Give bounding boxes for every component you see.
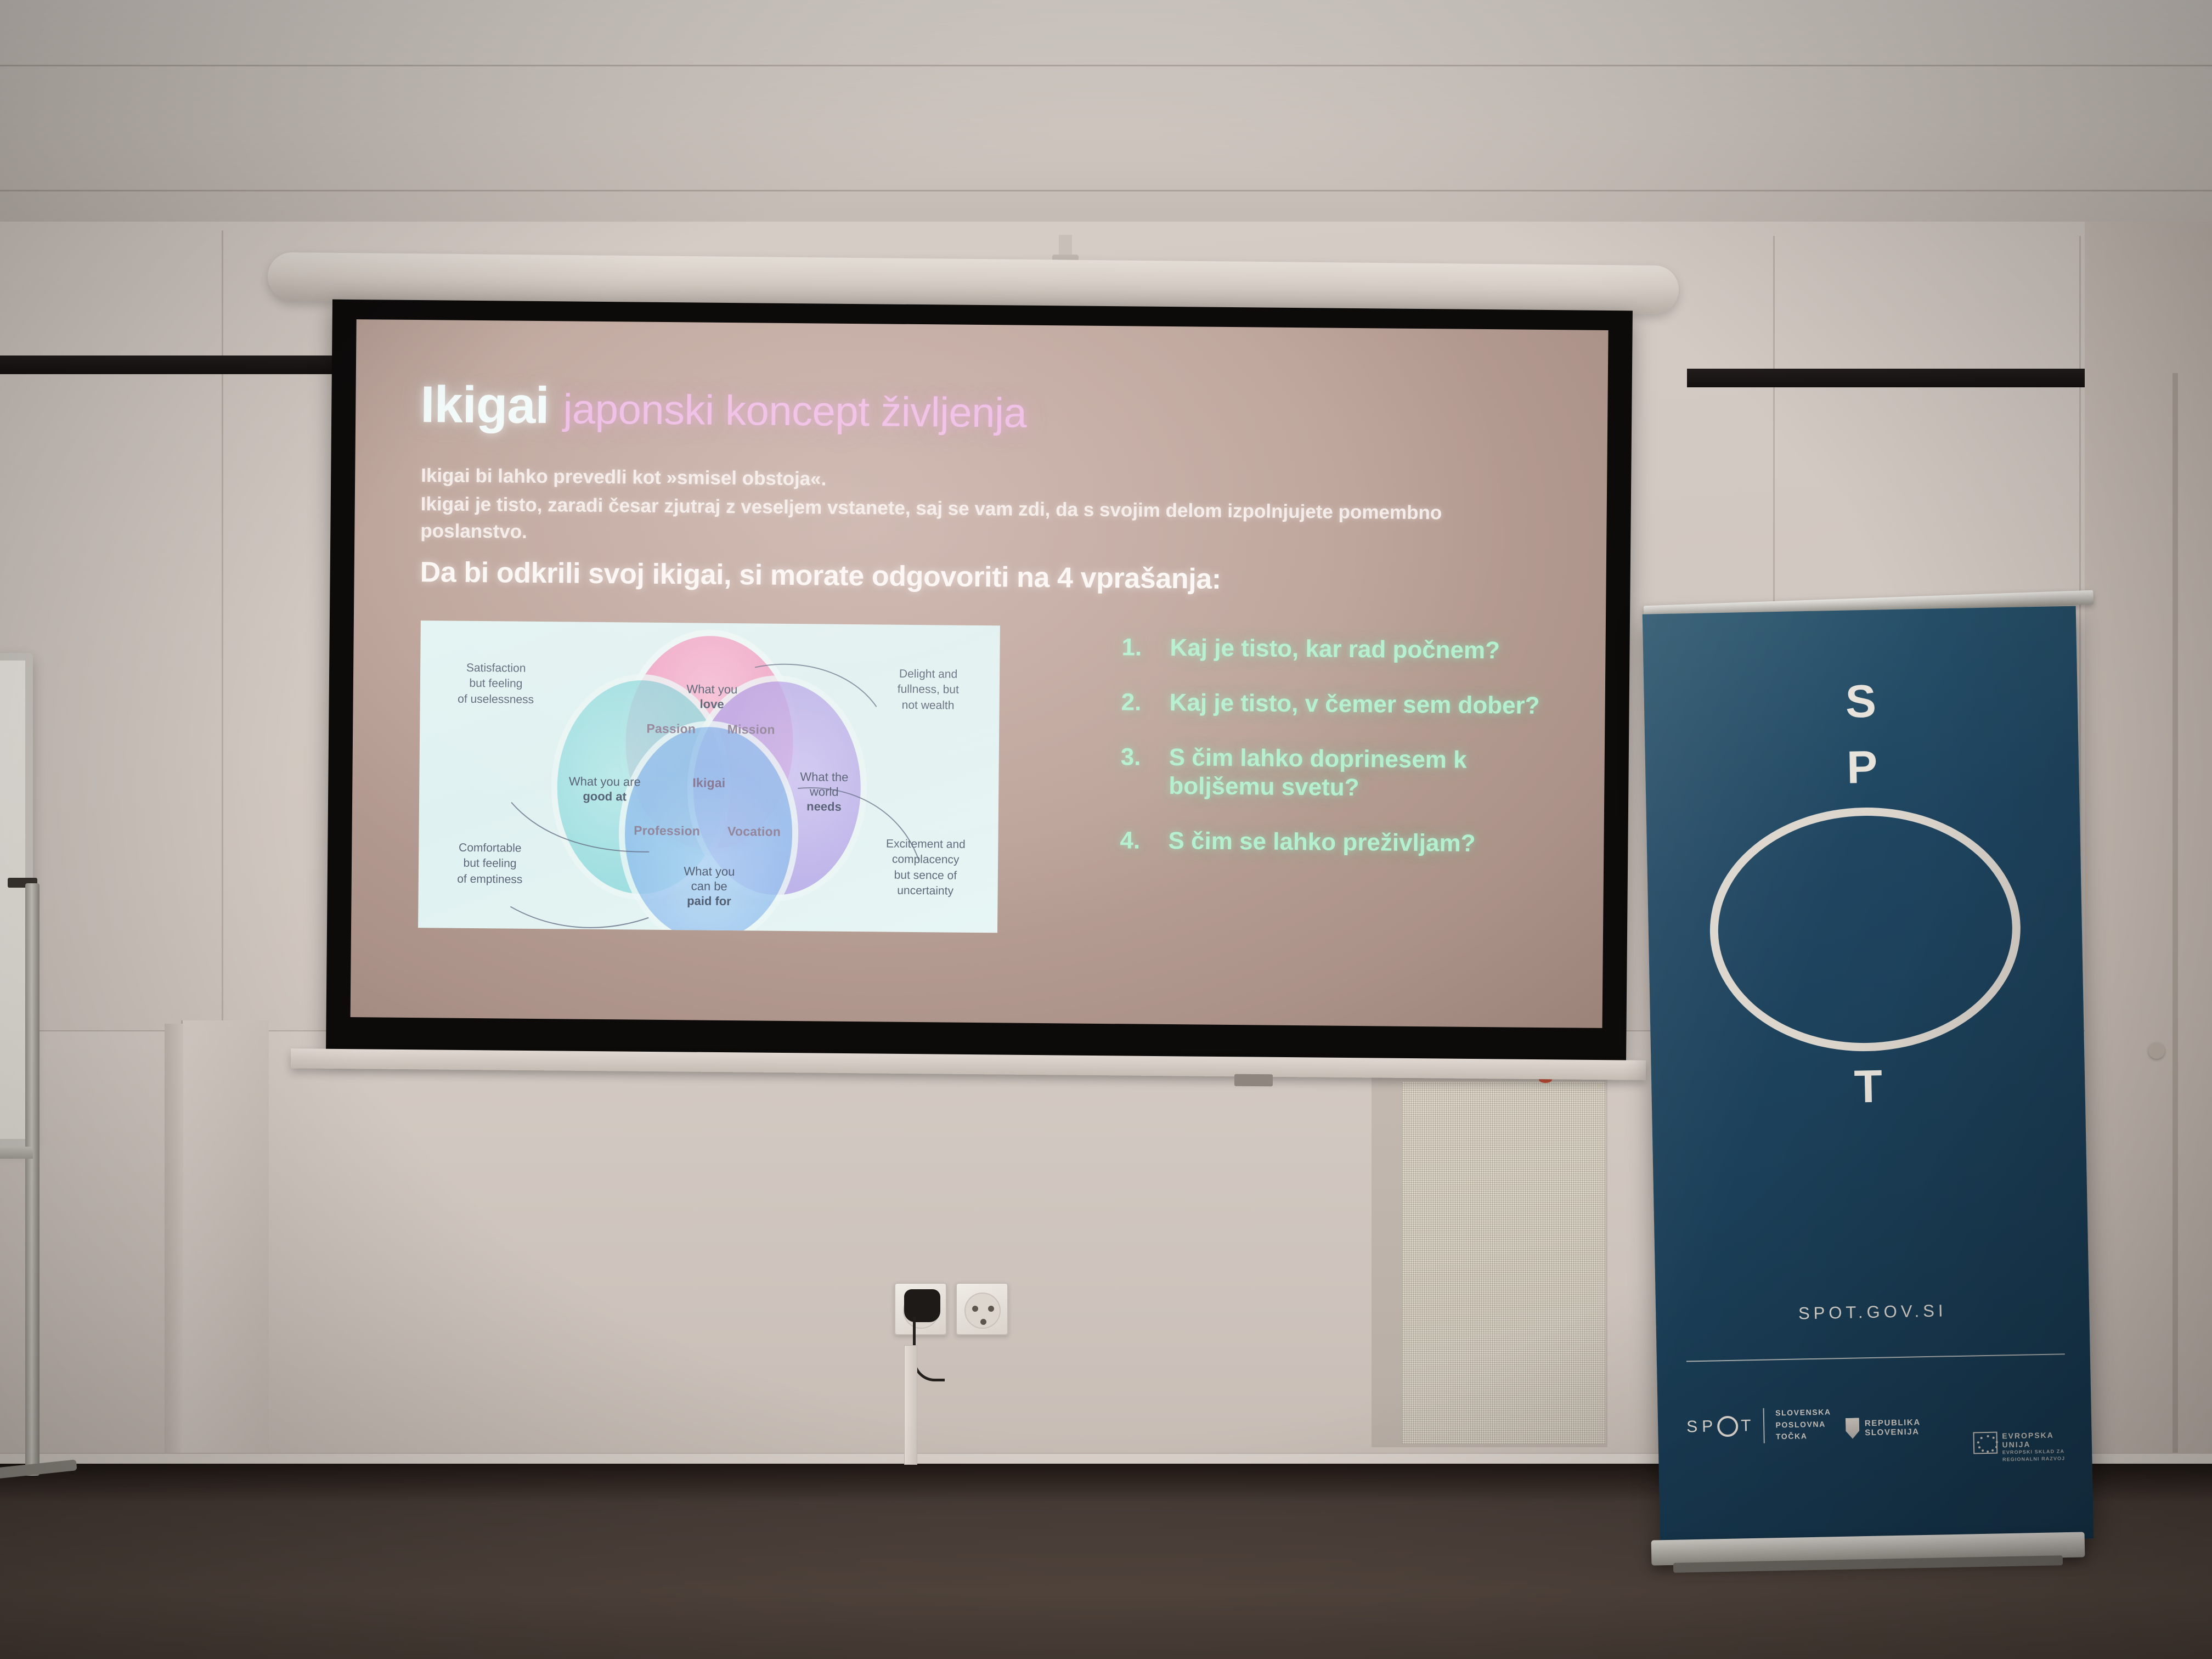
venn-callout-top-right: Delight and fullness, but not wealth xyxy=(863,666,993,714)
slide-title-sub: japonski koncept življenja xyxy=(563,385,1026,437)
venn-label-love: What you love xyxy=(668,682,755,712)
conference-room-scene: Ikigai japonski koncept življenja Ikigai… xyxy=(0,0,2212,1659)
cable-channel xyxy=(904,1345,917,1465)
venn-callout-top-left: Satisfaction but feeling of uselessness xyxy=(430,660,562,708)
question-text-3: S čim lahko doprinesem k boljšemu svetu? xyxy=(1169,743,1472,803)
power-socket-right[interactable] xyxy=(956,1283,1008,1335)
venn-label-world-needs: What the world needs xyxy=(786,770,863,815)
question-number-1: 1. xyxy=(1121,633,1151,662)
flipchart-pole xyxy=(25,883,39,1476)
door-knob[interactable] xyxy=(2148,1042,2165,1059)
slide-title: Ikigai japonski koncept življenja xyxy=(420,375,1027,439)
wall-right xyxy=(2085,222,2212,1467)
question-item-1: 1. Kaj je tisto, kar rad počnem? xyxy=(1121,633,1608,666)
spot-rollup-banner: S P T SPOT.GOV.SI S P T SLOVENSKA POSLOV… xyxy=(1643,606,2093,1547)
venn-intersection-mission: Mission xyxy=(707,722,795,737)
banner-sheen xyxy=(1643,606,2093,1547)
slide-paragraph: Ikigai bi lahko prevedli kot »smisel obs… xyxy=(420,462,1507,554)
wall-rail-left xyxy=(0,356,351,374)
venn-intersection-passion: Passion xyxy=(627,721,715,736)
flipchart-tray xyxy=(0,1147,33,1159)
question-item-2: 2. Kaj je tisto, v čemer sem dober? xyxy=(1121,688,1608,721)
question-number-2: 2. xyxy=(1121,688,1150,716)
ledge-clip xyxy=(1234,1074,1273,1087)
question-text-1: Kaj je tisto, kar rad počnem? xyxy=(1170,634,1608,666)
wall-pillar xyxy=(181,1020,269,1466)
slide-title-main: Ikigai xyxy=(420,375,549,435)
projection-screen[interactable]: Ikigai japonski koncept življenja Ikigai… xyxy=(326,300,1633,1063)
power-cable xyxy=(913,1317,945,1381)
perforated-panel xyxy=(1402,1082,1605,1444)
slide-content: Ikigai japonski koncept življenja Ikigai… xyxy=(351,319,1609,1028)
ikigai-venn-diagram: What you love What you are good at What … xyxy=(418,620,1000,933)
wall-pillar-edge xyxy=(165,1024,183,1466)
question-text-4: S čim se lahko preživljam? xyxy=(1168,827,1608,859)
venn-intersection-vocation: Vocation xyxy=(707,824,800,839)
question-text-2: Kaj je tisto, v čemer sem dober? xyxy=(1169,689,1608,721)
door-edge xyxy=(2172,373,2178,1459)
venn-label-good-at: What you are good at xyxy=(556,774,653,804)
question-item-3: 3. S čim lahko doprinesem k boljšemu sve… xyxy=(1120,743,1472,803)
venn-intersection-profession: Profession xyxy=(617,823,716,839)
slide-paragraph-line-2: Ikigai je tisto, zaradi česar zjutraj z … xyxy=(420,491,1507,554)
slide-heading: Da bi odkrili svoj ikigai, si morate odg… xyxy=(420,556,1517,598)
question-item-4: 4. S čim se lahko preživljam? xyxy=(1120,826,1608,859)
venn-intersection-ikigai: Ikigai xyxy=(665,775,753,791)
question-number-4: 4. xyxy=(1120,826,1149,855)
venn-callout-bottom-left: Comfortable but feeling of emptiness xyxy=(424,840,556,888)
venn-callout-bottom-right: Excitement and complacency but sence of … xyxy=(859,836,993,900)
venn-label-paid-for: What you can be paid for xyxy=(665,864,753,909)
question-number-3: 3. xyxy=(1120,743,1150,800)
questions-list: 1. Kaj je tisto, kar rad počnem? 2. Kaj … xyxy=(1120,633,1609,885)
projected-slide: Ikigai japonski koncept življenja Ikigai… xyxy=(351,319,1609,1028)
screen-hook xyxy=(1059,235,1072,260)
ceiling xyxy=(0,0,2212,236)
